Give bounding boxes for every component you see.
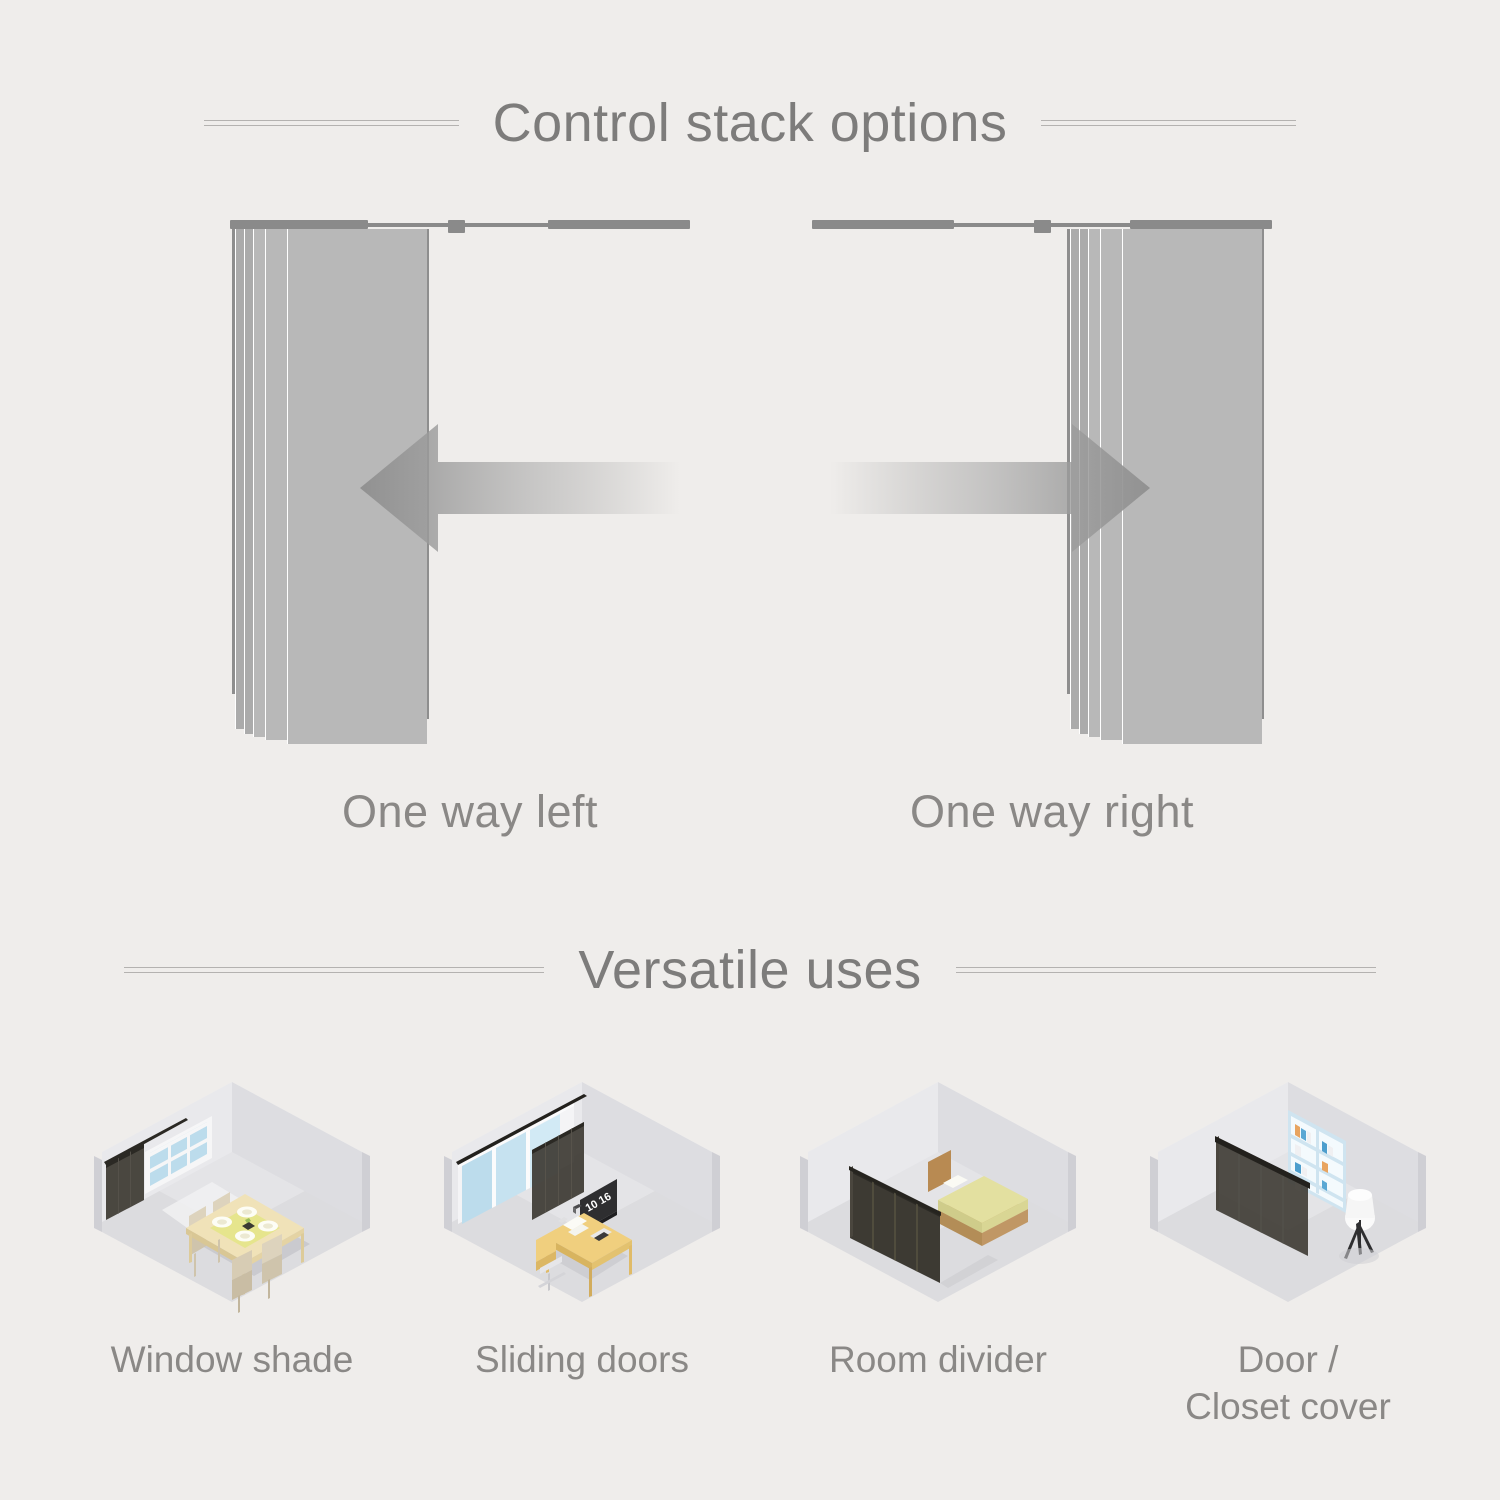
section-header-control-stack: Control stack options	[0, 88, 1500, 158]
use-case-door-closet-cover: Door / Closet cover	[1138, 1040, 1438, 1330]
scene-bedroom-partition	[788, 1040, 1088, 1330]
caption-line: Closet cover	[1138, 1383, 1438, 1430]
track-segment-left	[812, 220, 954, 229]
caption-line: Sliding doors	[432, 1336, 732, 1383]
caption-one-way-right: One way right	[812, 786, 1292, 838]
caption-door-closet-cover: Door / Closet cover	[1138, 1336, 1438, 1431]
use-case-window-shade: Window shade	[82, 1040, 382, 1330]
caption-room-divider: Room divider	[788, 1336, 1088, 1383]
scene-closet-cover	[1138, 1040, 1438, 1330]
diagram-one-way-right: One way right	[812, 218, 1292, 758]
track-rail-middle	[952, 223, 1037, 227]
track-rail-middle-2	[465, 223, 550, 227]
caption-line: Door /	[1138, 1336, 1438, 1383]
caption-sliding-doors: Sliding doors	[432, 1336, 732, 1383]
stacked-panel	[253, 229, 265, 737]
track-connector-node	[448, 220, 465, 233]
direction-arrow-right	[830, 418, 1150, 558]
track-segment-left	[230, 220, 368, 229]
track-rail-middle-2	[1051, 223, 1133, 227]
use-case-room-divider: Room divider	[788, 1040, 1088, 1330]
use-case-sliding-doors: 10 16 Sli	[432, 1040, 732, 1330]
caption-window-shade: Window shade	[82, 1336, 382, 1383]
header-rule-right	[956, 965, 1376, 975]
stacked-panel	[235, 229, 244, 729]
stacked-panel	[244, 229, 253, 734]
direction-arrow-left	[360, 418, 680, 558]
track-connector-node	[1034, 220, 1051, 233]
scene-dining-room	[82, 1040, 382, 1330]
section-header-versatile-uses: Versatile uses	[0, 935, 1500, 1005]
track-segment-right	[548, 220, 690, 229]
stacked-panel	[265, 229, 287, 740]
header-rule-left	[124, 965, 544, 975]
section-title-control-stack: Control stack options	[493, 96, 1008, 150]
caption-line: Room divider	[788, 1336, 1088, 1383]
header-rule-left	[204, 118, 459, 128]
header-rule-right	[1041, 118, 1296, 128]
scene-office-patio-doors: 10 16	[432, 1040, 732, 1330]
front-panel-edge	[1262, 229, 1264, 719]
caption-one-way-left: One way left	[230, 786, 710, 838]
track-segment-right	[1130, 220, 1272, 229]
section-title-versatile-uses: Versatile uses	[578, 943, 921, 997]
diagram-one-way-left: One way left	[230, 218, 710, 758]
infographic-page: Control stack options	[0, 0, 1500, 1500]
caption-line: Window shade	[82, 1336, 382, 1383]
